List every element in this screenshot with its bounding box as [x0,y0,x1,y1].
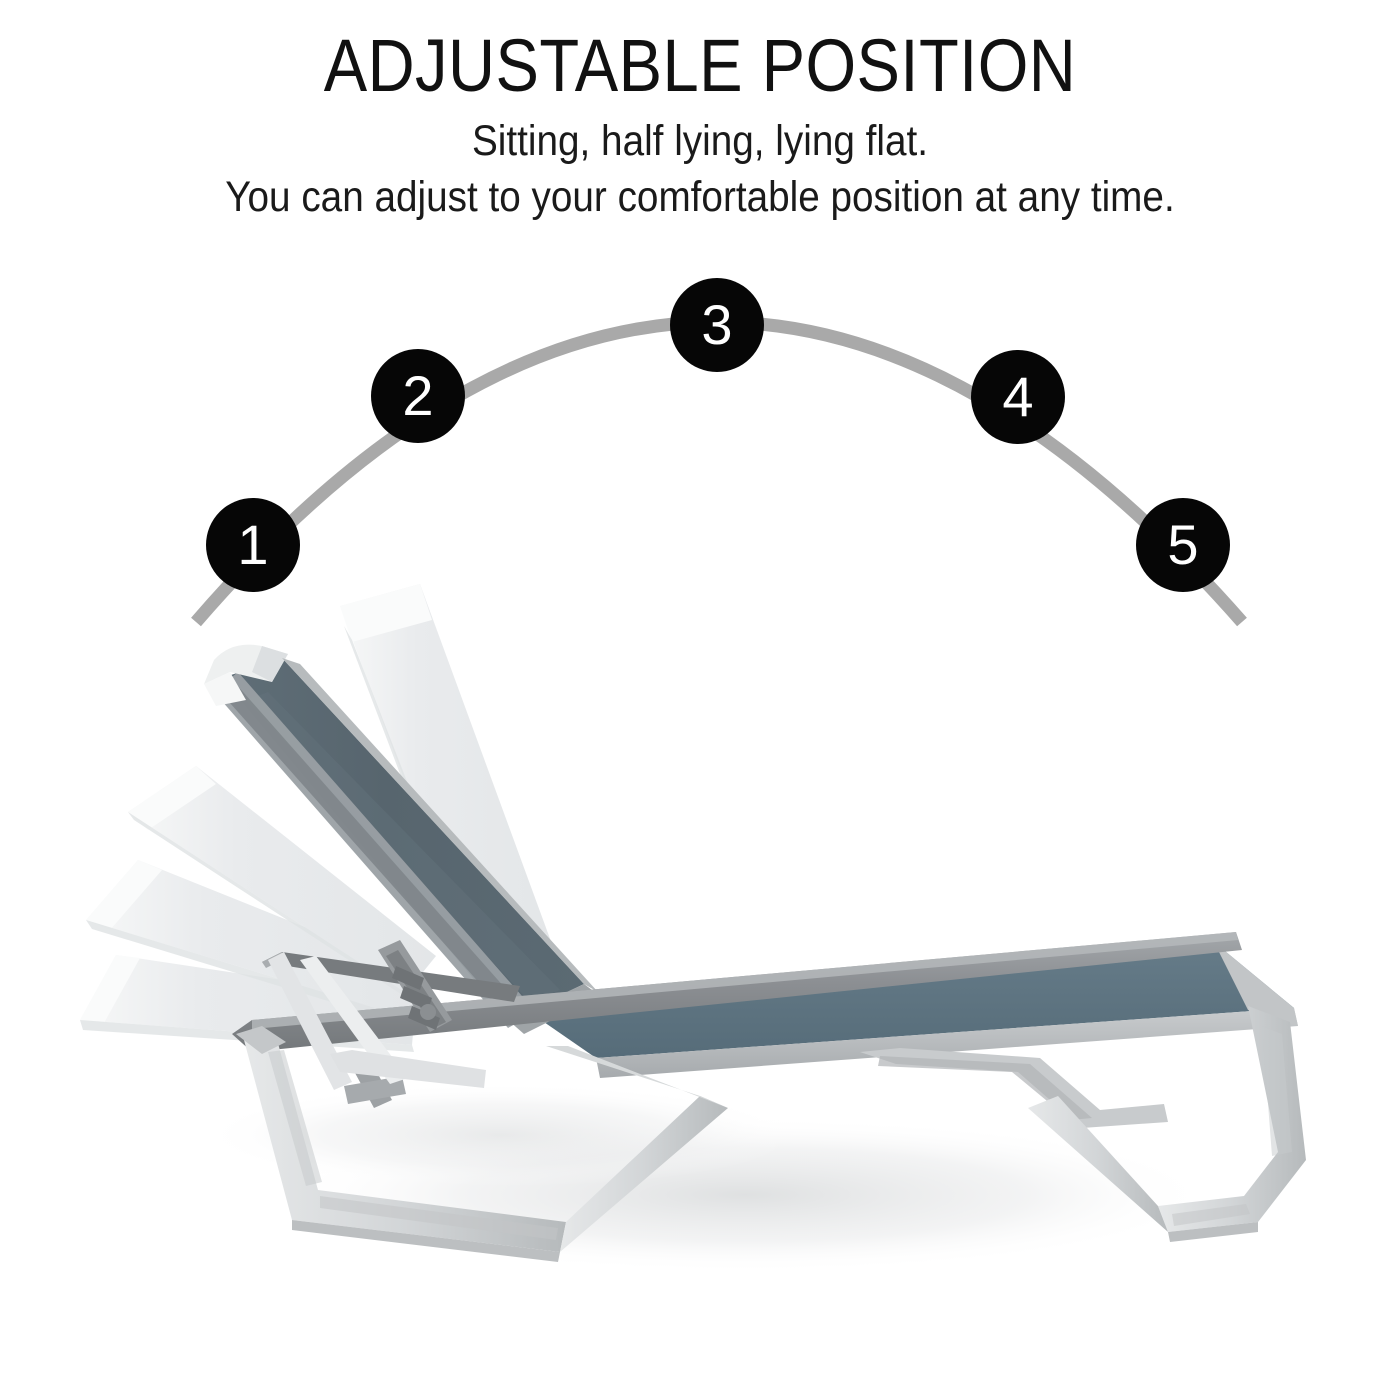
position-badge-label: 1 [237,517,268,573]
position-badge-label: 2 [402,368,433,424]
position-badge-5[interactable]: 5 [1136,498,1230,592]
position-badge-4[interactable]: 4 [971,350,1065,444]
position-badge-3[interactable]: 3 [670,278,764,372]
position-badge-2[interactable]: 2 [371,349,465,443]
position-badge-label: 4 [1002,369,1033,425]
infographic-canvas: ADJUSTABLE POSITION Sitting, half lying,… [0,0,1400,1400]
position-badge-label: 5 [1167,517,1198,573]
position-badge-1[interactable]: 1 [206,498,300,592]
rear-inner-leg [860,1048,1168,1128]
product-illustration [0,0,1400,1400]
position-badge-label: 3 [701,297,732,353]
